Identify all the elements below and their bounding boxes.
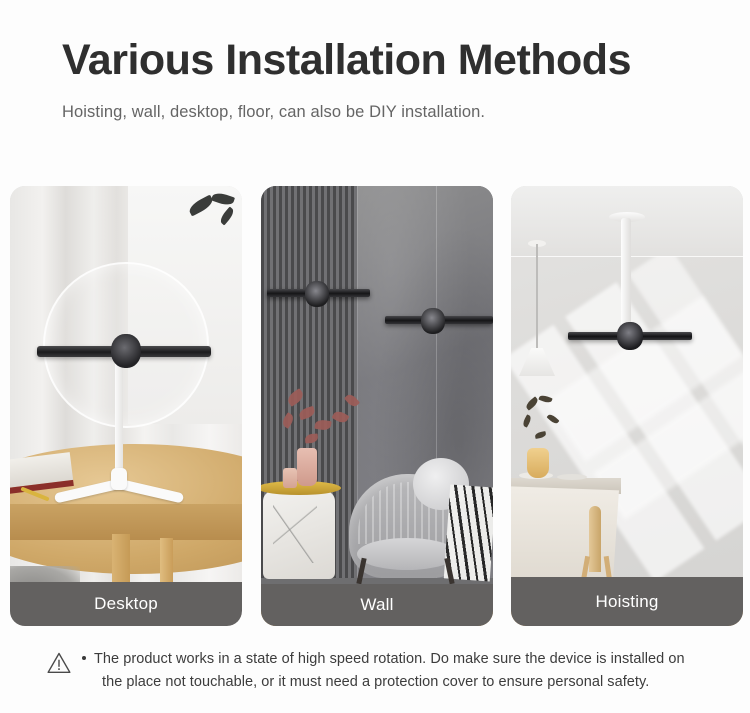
- installation-card-wall[interactable]: Wall: [261, 186, 493, 626]
- vase-decor: [297, 448, 317, 486]
- hologram-fan-hub: [111, 334, 141, 368]
- card-caption-wall: Wall: [261, 584, 493, 626]
- installation-card-desktop[interactable]: Desktop: [10, 186, 242, 626]
- wall-installation-photo: [261, 186, 493, 626]
- hologram-fan-hub: [421, 308, 445, 334]
- page-title: Various Installation Methods: [62, 38, 702, 83]
- safety-note: The product works in a state of high spe…: [46, 648, 716, 695]
- installation-methods-gallery: Desktop Wall: [0, 186, 750, 630]
- safety-note-line-1: The product works in a state of high spe…: [94, 648, 716, 671]
- marble-side-table: [263, 491, 335, 579]
- hologram-fan-hub: [617, 322, 643, 350]
- desktop-installation-photo: [10, 186, 242, 626]
- page-header: Various Installation Methods Hoisting, w…: [62, 38, 702, 122]
- hologram-fan-hub: [305, 281, 329, 307]
- safety-note-line-2: the place not touchable, or it must need…: [94, 671, 716, 694]
- page-subtitle: Hoisting, wall, desktop, floor, can also…: [62, 83, 702, 122]
- dried-branches-decor: [515, 394, 571, 452]
- bullet-point: [82, 656, 86, 660]
- vase-decor: [527, 448, 549, 478]
- hoisting-installation-photo: [511, 186, 743, 626]
- installation-card-hoisting[interactable]: Hoisting: [511, 186, 743, 626]
- plant-leaf-decor: [176, 192, 236, 238]
- dried-branches-decor: [275, 382, 367, 462]
- card-caption-hoisting: Hoisting: [511, 577, 743, 626]
- warning-triangle-icon: [46, 650, 72, 676]
- drop-rod: [621, 218, 631, 326]
- tripod-stand: [54, 468, 184, 502]
- card-caption-desktop: Desktop: [10, 582, 242, 626]
